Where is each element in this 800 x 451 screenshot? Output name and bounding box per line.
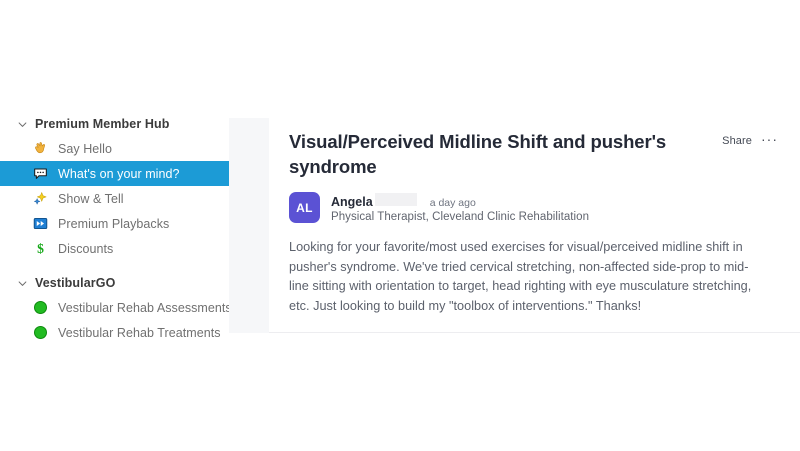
green-circle-icon (32, 300, 48, 316)
sidebar-group-header-vestibulargo[interactable]: VestibularGO (0, 271, 229, 295)
sidebar-group-header-premium-member-hub[interactable]: Premium Member Hub (0, 112, 229, 136)
post-author-row: AL Angela a day ago Physical Therapist, … (289, 192, 778, 223)
sidebar-item-vestibular-rehab-treatments[interactable]: Vestibular Rehab Treatments (0, 320, 229, 345)
chevron-down-icon (14, 275, 30, 291)
sidebar-item-vestibular-rehab-assessments[interactable]: Vestibular Rehab Assessments (0, 295, 229, 320)
sidebar-item-label: Show & Tell (58, 192, 124, 206)
sidebar-group-label: Premium Member Hub (35, 117, 169, 131)
sidebar-item-label: Vestibular Rehab Treatments (58, 326, 221, 340)
nav-group-vestibulargo: VestibularGO Vestibular Rehab Assessment… (0, 271, 229, 345)
sidebar-item-label: What's on your mind? (58, 167, 180, 181)
share-button[interactable]: Share (722, 135, 752, 147)
sidebar-item-label: Discounts (58, 242, 113, 256)
author-name-row: Angela a day ago (331, 193, 589, 209)
post-detail-card: Visual/Perceived Midline Shift and pushe… (269, 118, 800, 333)
author-name[interactable]: Angela (331, 195, 373, 209)
green-circle-icon (32, 325, 48, 341)
content-gutter (229, 118, 269, 333)
sidebar-item-whats-on-your-mind[interactable]: What's on your mind? (0, 161, 229, 186)
author-role: Physical Therapist, Cleveland Clinic Reh… (331, 211, 589, 223)
app-root: Premium Member Hub Say Hello (0, 0, 800, 451)
page-title: Visual/Perceived Midline Shift and pushe… (289, 129, 681, 179)
post-header: Visual/Perceived Midline Shift and pushe… (289, 129, 778, 179)
author-meta: Angela a day ago Physical Therapist, Cle… (331, 192, 589, 223)
avatar[interactable]: AL (289, 192, 320, 223)
post-body-text: Looking for your favorite/most used exer… (289, 238, 765, 316)
nav-group-spacer (0, 261, 229, 271)
sidebar-item-show-and-tell[interactable]: Show & Tell (0, 186, 229, 211)
nav-group-premium-member-hub: Premium Member Hub Say Hello (0, 112, 229, 261)
more-options-icon[interactable]: ··· (761, 135, 778, 147)
sparkles-icon (32, 191, 48, 207)
svg-text:$: $ (37, 241, 44, 256)
speech-bubble-icon (32, 166, 48, 182)
sidebar-item-premium-playbacks[interactable]: Premium Playbacks (0, 211, 229, 236)
sidebar-item-discounts[interactable]: $ Discounts (0, 236, 229, 261)
fast-forward-icon (32, 216, 48, 232)
sidebar-navigation: Premium Member Hub Say Hello (0, 112, 229, 340)
dollar-sign-icon: $ (32, 241, 48, 257)
chevron-down-icon (14, 116, 30, 132)
redacted-lastname (375, 193, 417, 206)
waving-hand-icon (32, 141, 48, 157)
post-header-actions: Share ··· (722, 129, 778, 147)
sidebar-item-label: Premium Playbacks (58, 217, 169, 231)
post-timestamp: a day ago (430, 197, 476, 209)
sidebar-group-label: VestibularGO (35, 276, 115, 290)
sidebar-item-say-hello[interactable]: Say Hello (0, 136, 229, 161)
sidebar-item-label: Vestibular Rehab Assessments (58, 301, 232, 315)
sidebar-item-label: Say Hello (58, 142, 112, 156)
